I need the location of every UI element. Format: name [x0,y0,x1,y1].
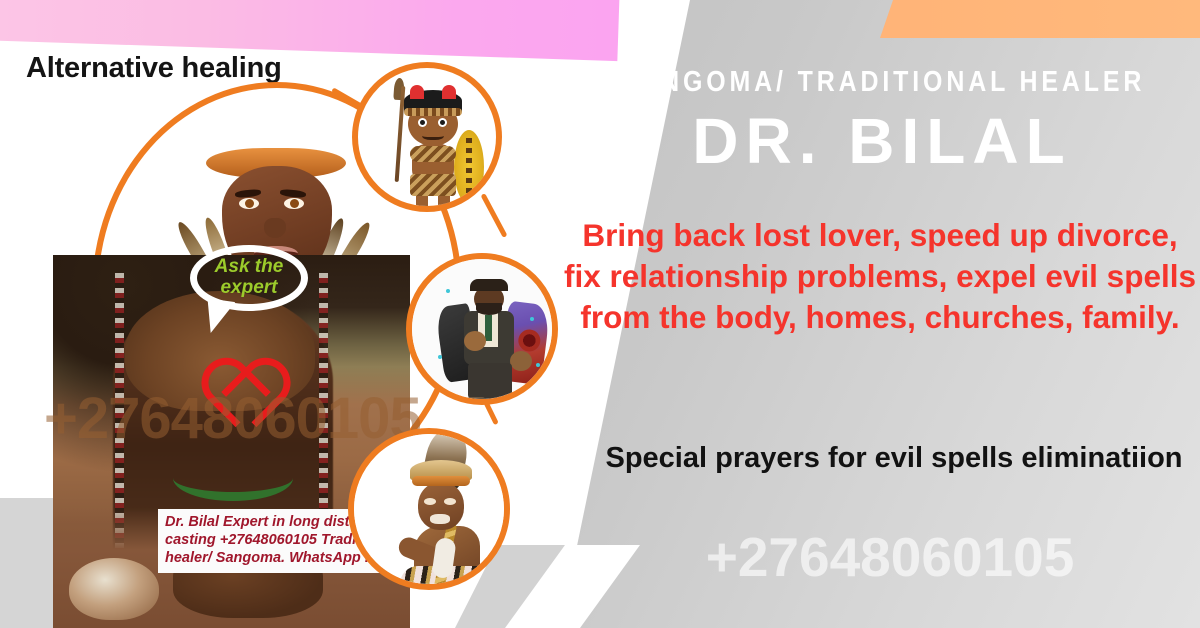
heart-annotation-icon [186,329,256,393]
poster-canvas: Alternative healing [0,0,1200,628]
kicker-subtitle: SANGOMA/ TRADITIONAL HEALER [615,66,1148,99]
special-prayers-text: Special prayers for evil spells eliminat… [584,440,1200,477]
circle-zulu-warrior-illustration [352,62,502,212]
page-title: Alternative healing [26,52,282,85]
right-content-column: SANGOMA/ TRADITIONAL HEALER DR. BILAL Br… [540,0,1200,628]
brand-name-title: DR. BILAL [572,104,1192,178]
speech-bubble: Ask the expert [190,245,308,311]
phone-number-watermark: +27648060105 [580,525,1200,589]
circle-kneeling-dancer-illustration [348,428,510,590]
services-pitch-text: Bring back lost lover, speed up divorce,… [560,215,1200,338]
circle-sangoma-cloak-illustration [406,253,558,405]
speech-bubble-label: Ask the expert [197,257,301,298]
